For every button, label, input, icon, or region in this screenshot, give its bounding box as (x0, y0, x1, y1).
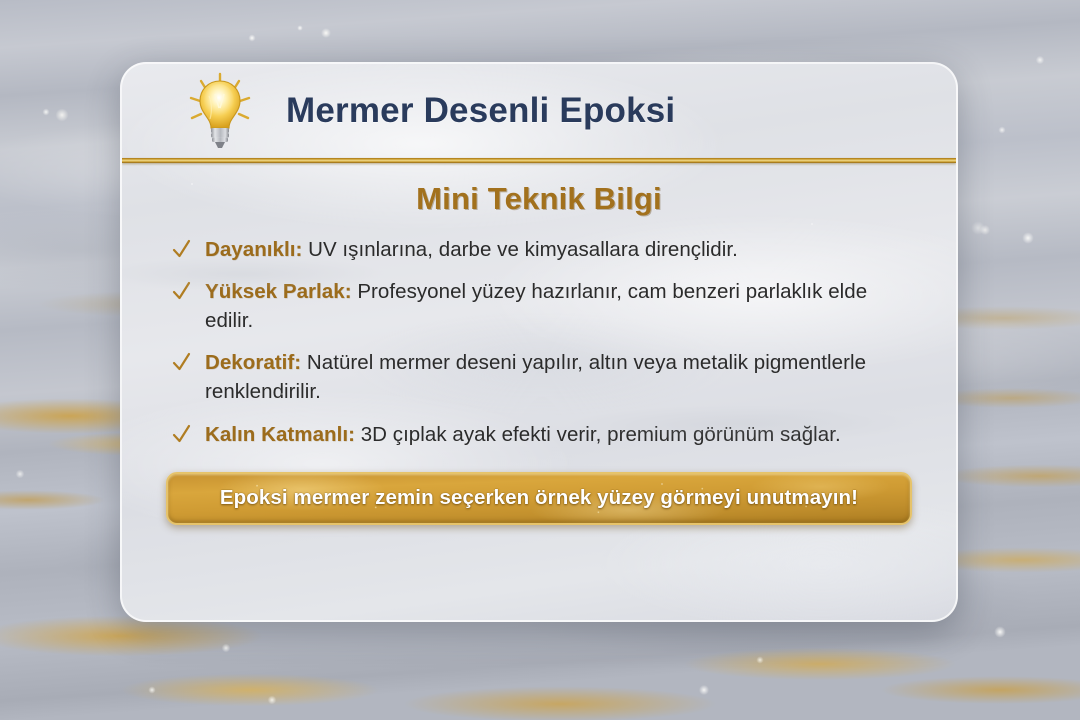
feature-text: Dayanıklı: UV ışınlarına, darbe ve kimya… (205, 235, 738, 264)
feature-label: Yüksek Parlak: (205, 280, 352, 303)
feature-description: 3D çıplak ayak efekti verir, premium gör… (355, 423, 841, 446)
feature-label: Dayanıklı: (205, 238, 302, 261)
list-item: Dayanıklı: UV ışınlarına, darbe ve kimya… (166, 235, 912, 264)
feature-description: Natürel mermer deseni yapılır, altın vey… (205, 351, 866, 403)
page-title: Mermer Desenli Epoksi (286, 91, 675, 131)
feature-list: Dayanıklı: UV ışınlarına, darbe ve kimya… (166, 235, 912, 449)
list-item: Yüksek Parlak: Profesyonel yüzey hazırla… (166, 277, 912, 335)
poster-canvas: Mermer Desenli Epoksi Mini Teknik Bilgi … (0, 0, 1080, 720)
card-body: Mini Teknik Bilgi Dayanıklı: UV ışınları… (122, 163, 956, 449)
check-icon (172, 420, 191, 447)
card-header: Mermer Desenli Epoksi (122, 64, 956, 158)
list-item: Kalın Katmanlı: 3D çıplak ayak efekti ve… (166, 420, 912, 449)
feature-text: Dekoratif: Natürel mermer deseni yapılır… (205, 348, 912, 406)
feature-text: Kalın Katmanlı: 3D çıplak ayak efekti ve… (205, 420, 841, 449)
callout-banner-wrapper: Epoksi mermer zemin seçerken örnek yüzey… (122, 462, 956, 525)
lightbulb-icon (188, 72, 252, 150)
callout-banner: Epoksi mermer zemin seçerken örnek yüzey… (166, 472, 912, 525)
feature-label: Kalın Katmanlı: (205, 423, 355, 446)
check-icon (172, 348, 191, 375)
check-icon (172, 235, 191, 262)
list-item: Dekoratif: Natürel mermer deseni yapılır… (166, 348, 912, 406)
feature-description: UV ışınlarına, darbe ve kimyasallara dir… (302, 238, 737, 261)
subtitle: Mini Teknik Bilgi (166, 181, 912, 217)
info-card: Mermer Desenli Epoksi Mini Teknik Bilgi … (120, 62, 958, 622)
feature-text: Yüksek Parlak: Profesyonel yüzey hazırla… (205, 277, 912, 335)
gold-divider (122, 158, 956, 163)
callout-banner-text: Epoksi mermer zemin seçerken örnek yüzey… (194, 484, 884, 511)
check-icon (172, 277, 191, 304)
feature-label: Dekoratif: (205, 351, 301, 374)
